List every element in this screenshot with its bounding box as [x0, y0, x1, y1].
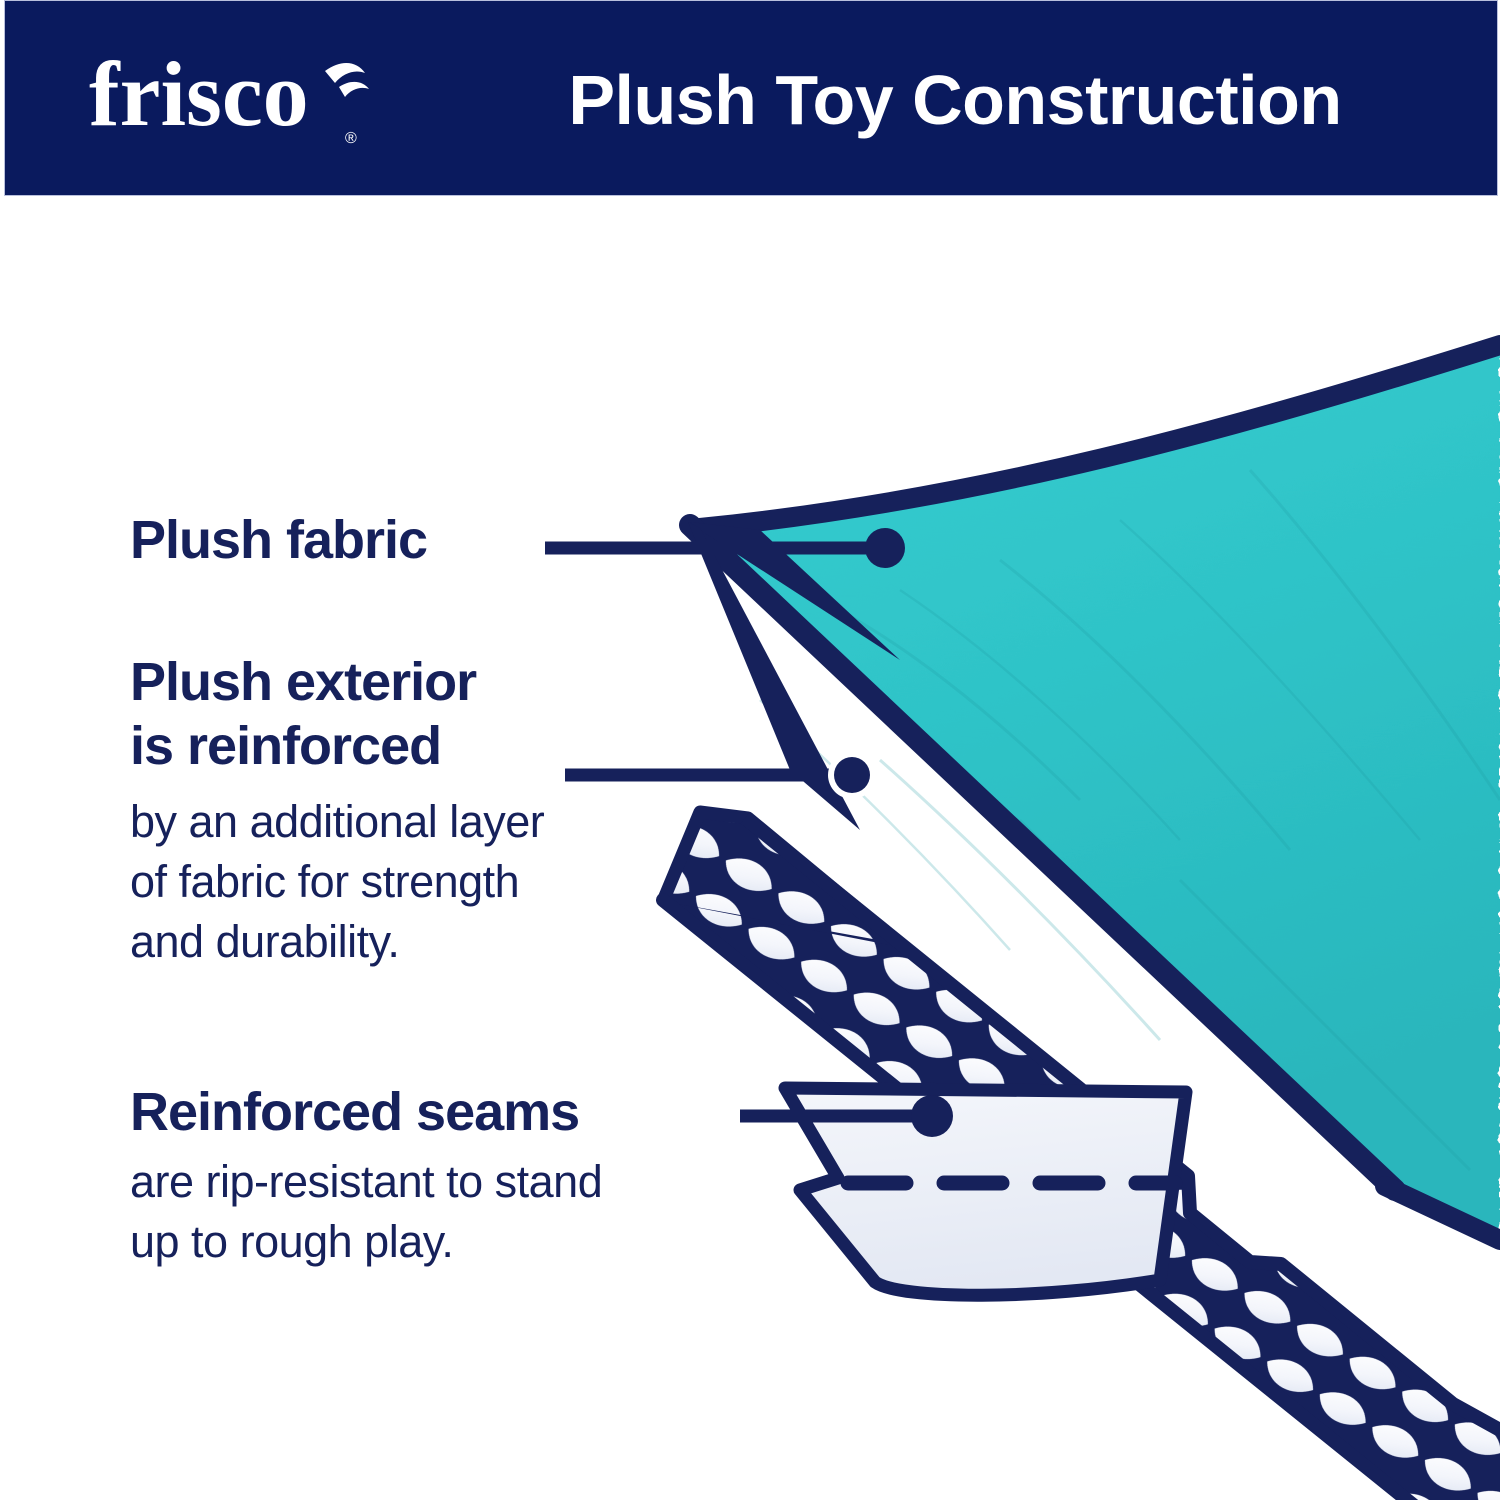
registered-trademark-icon: ®: [345, 130, 357, 147]
leader-dot-plush-fabric: [865, 528, 905, 568]
frisco-swoosh-icon: [325, 63, 365, 83]
leader-dot-reinforced-seams: [911, 1095, 953, 1137]
frisco-logo: frisco ®: [89, 43, 389, 153]
plush-toy-cutaway-illustration: [0, 196, 1500, 1500]
frisco-swoosh-small-icon: [339, 82, 369, 97]
leader-dot-plush-exterior: [834, 757, 870, 793]
frisco-wordmark-text: frisco: [89, 43, 309, 145]
page-title: Plush Toy Construction: [505, 45, 1405, 155]
header-bar: frisco ® Plush Toy Construction: [4, 0, 1498, 196]
infographic-page: frisco ® Plush Toy Construction Plush fa…: [0, 0, 1500, 1500]
frisco-wordmark-icon: frisco ®: [89, 43, 389, 153]
